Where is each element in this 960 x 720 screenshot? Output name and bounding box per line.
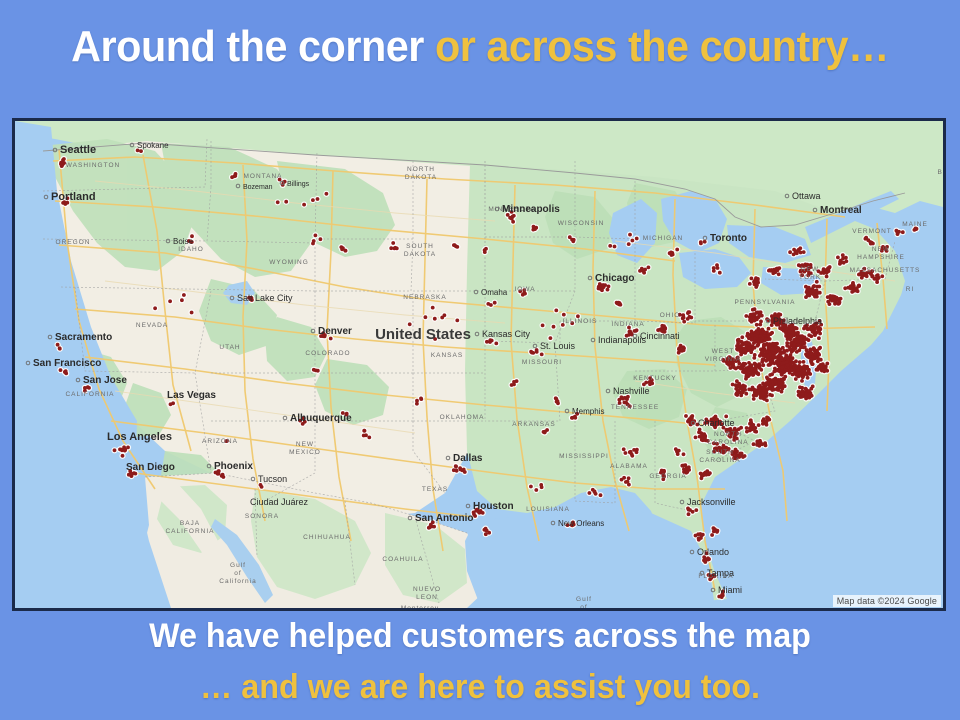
customer-location-marker[interactable] [761, 363, 765, 367]
customer-location-marker[interactable] [849, 285, 853, 289]
customer-location-marker[interactable] [540, 353, 544, 357]
customer-location-marker[interactable] [864, 236, 868, 240]
customer-location-marker[interactable] [734, 453, 738, 457]
customer-location-marker[interactable] [630, 454, 634, 458]
customer-location-marker[interactable] [837, 301, 841, 305]
customer-location-marker[interactable] [319, 237, 323, 241]
customer-location-marker[interactable] [389, 246, 393, 250]
customer-location-marker[interactable] [748, 282, 752, 286]
customer-location-marker[interactable] [153, 306, 157, 310]
customer-location-marker[interactable] [735, 344, 739, 348]
customer-location-marker[interactable] [753, 317, 757, 321]
customer-location-marker[interactable] [851, 281, 855, 285]
customer-location-marker[interactable] [690, 414, 694, 418]
customer-location-marker[interactable] [127, 473, 131, 477]
customer-location-marker[interactable] [807, 394, 811, 398]
customer-location-marker[interactable] [302, 203, 306, 207]
customer-location-marker[interactable] [415, 399, 419, 403]
customer-location-marker[interactable] [454, 464, 458, 468]
customer-location-marker[interactable] [777, 272, 781, 276]
customer-location-marker[interactable] [801, 393, 805, 397]
customer-location-marker[interactable] [838, 262, 842, 266]
customer-location-marker[interactable] [697, 537, 701, 541]
customer-location-marker[interactable] [59, 162, 63, 166]
customer-location-marker[interactable] [765, 376, 769, 380]
customer-location-marker[interactable] [764, 359, 768, 363]
customer-location-marker[interactable] [747, 369, 751, 373]
customer-location-marker[interactable] [119, 448, 123, 452]
customer-location-marker[interactable] [543, 431, 547, 435]
customer-location-marker[interactable] [817, 329, 821, 333]
customer-location-marker[interactable] [625, 397, 629, 401]
customer-location-marker[interactable] [796, 331, 800, 335]
customer-location-marker[interactable] [483, 248, 487, 252]
customer-location-marker[interactable] [631, 239, 635, 243]
customer-location-marker[interactable] [755, 311, 759, 315]
customer-location-marker[interactable] [786, 363, 790, 367]
customer-location-marker[interactable] [588, 491, 592, 495]
customer-location-marker[interactable] [190, 311, 194, 315]
customer-location-marker[interactable] [58, 347, 62, 351]
customer-location-marker[interactable] [802, 327, 806, 331]
customer-location-marker[interactable] [627, 476, 631, 480]
customer-location-marker[interactable] [755, 393, 759, 397]
customer-location-marker[interactable] [329, 337, 333, 341]
customer-location-marker[interactable] [703, 559, 707, 563]
customer-location-marker[interactable] [745, 430, 749, 434]
customer-location-marker[interactable] [681, 348, 685, 352]
customer-location-marker[interactable] [624, 451, 628, 455]
customer-location-marker[interactable] [752, 442, 756, 446]
customer-location-marker[interactable] [635, 450, 639, 454]
customer-location-marker[interactable] [788, 348, 792, 352]
customer-location-marker[interactable] [761, 358, 765, 362]
customer-location-marker[interactable] [182, 293, 186, 297]
customer-location-marker[interactable] [780, 357, 784, 361]
customer-location-marker[interactable] [775, 342, 779, 346]
customer-location-marker[interactable] [554, 309, 558, 313]
customer-location-marker[interactable] [532, 225, 536, 229]
customer-location-marker[interactable] [897, 230, 901, 234]
customer-location-marker[interactable] [810, 362, 814, 366]
customer-location-marker[interactable] [703, 240, 707, 244]
customer-location-marker[interactable] [694, 534, 698, 538]
customer-location-marker[interactable] [768, 268, 772, 272]
customer-location-marker[interactable] [783, 384, 787, 388]
customer-location-marker[interactable] [799, 366, 803, 370]
customer-location-marker[interactable] [836, 256, 840, 260]
customer-location-marker[interactable] [812, 347, 816, 351]
customer-location-marker[interactable] [822, 369, 826, 373]
customer-location-marker[interactable] [780, 365, 784, 369]
customer-location-marker[interactable] [694, 436, 698, 440]
customer-location-marker[interactable] [772, 354, 776, 358]
customer-location-marker[interactable] [817, 336, 821, 340]
customer-location-marker[interactable] [797, 348, 801, 352]
customer-location-marker[interactable] [788, 250, 792, 254]
customer-location-marker[interactable] [675, 248, 679, 252]
customer-location-marker[interactable] [751, 423, 755, 427]
customer-location-map[interactable]: WASHINGTONOREGONIDAHOMONTANAWYOMINGNEVAD… [15, 121, 943, 608]
customer-location-marker[interactable] [740, 340, 744, 344]
customer-location-marker[interactable] [316, 197, 320, 201]
customer-location-marker[interactable] [762, 397, 766, 401]
customer-location-marker[interactable] [806, 327, 810, 331]
customer-location-marker[interactable] [798, 360, 802, 364]
customer-location-marker[interactable] [770, 347, 774, 351]
customer-location-marker[interactable] [311, 198, 315, 202]
customer-location-marker[interactable] [744, 392, 748, 396]
customer-location-marker[interactable] [801, 375, 805, 379]
customer-location-marker[interactable] [554, 396, 558, 400]
customer-location-marker[interactable] [687, 508, 691, 512]
customer-location-marker[interactable] [745, 426, 749, 430]
customer-location-marker[interactable] [699, 240, 703, 244]
customer-location-marker[interactable] [762, 343, 766, 347]
customer-location-marker[interactable] [616, 302, 620, 306]
customer-location-marker[interactable] [773, 380, 777, 384]
customer-location-marker[interactable] [809, 352, 813, 356]
customer-location-marker[interactable] [62, 157, 66, 161]
customer-location-marker[interactable] [792, 343, 796, 347]
customer-location-marker[interactable] [788, 330, 792, 334]
customer-location-marker[interactable] [771, 342, 775, 346]
customer-location-marker[interactable] [682, 464, 686, 468]
customer-location-marker[interactable] [758, 439, 762, 443]
customer-location-marker[interactable] [452, 243, 456, 247]
customer-location-marker[interactable] [901, 230, 905, 234]
customer-location-marker[interactable] [391, 241, 395, 245]
customer-location-marker[interactable] [751, 308, 755, 312]
customer-location-marker[interactable] [812, 289, 816, 293]
customer-location-marker[interactable] [812, 326, 816, 330]
customer-location-marker[interactable] [756, 331, 760, 335]
customer-location-marker[interactable] [485, 340, 489, 344]
customer-location-marker[interactable] [643, 268, 647, 272]
customer-location-marker[interactable] [771, 385, 775, 389]
customer-location-marker[interactable] [570, 416, 574, 420]
customer-location-marker[interactable] [344, 249, 348, 253]
customer-location-marker[interactable] [607, 285, 611, 289]
customer-location-marker[interactable] [795, 373, 799, 377]
customer-location-marker[interactable] [860, 276, 864, 280]
customer-location-marker[interactable] [735, 379, 739, 383]
customer-location-marker[interactable] [694, 508, 698, 512]
customer-location-marker[interactable] [627, 242, 631, 246]
customer-location-marker[interactable] [597, 287, 601, 291]
customer-location-marker[interactable] [738, 452, 742, 456]
customer-location-marker[interactable] [754, 278, 758, 282]
customer-location-marker[interactable] [720, 595, 724, 599]
customer-location-marker[interactable] [788, 337, 792, 341]
customer-location-marker[interactable] [734, 448, 738, 452]
customer-location-marker[interactable] [752, 426, 756, 430]
customer-location-marker[interactable] [704, 471, 708, 475]
customer-location-marker[interactable] [806, 376, 810, 380]
customer-location-marker[interactable] [822, 267, 826, 271]
customer-location-marker[interactable] [431, 306, 435, 310]
customer-location-marker[interactable] [755, 364, 759, 368]
customer-location-marker[interactable] [539, 483, 543, 487]
customer-location-marker[interactable] [512, 380, 516, 384]
customer-location-marker[interactable] [419, 397, 423, 401]
customer-location-marker[interactable] [781, 378, 785, 382]
customer-location-marker[interactable] [325, 192, 329, 196]
customer-location-marker[interactable] [789, 357, 793, 361]
customer-location-marker[interactable] [316, 369, 320, 373]
customer-location-marker[interactable] [534, 488, 538, 492]
customer-location-marker[interactable] [739, 345, 743, 349]
customer-location-marker[interactable] [284, 200, 288, 204]
customer-location-marker[interactable] [826, 300, 830, 304]
customer-location-marker[interactable] [807, 389, 811, 393]
customer-location-marker[interactable] [780, 372, 784, 376]
customer-location-marker[interactable] [798, 246, 802, 250]
customer-location-marker[interactable] [797, 390, 801, 394]
customer-location-marker[interactable] [647, 266, 651, 270]
customer-location-marker[interactable] [817, 353, 821, 357]
customer-location-marker[interactable] [700, 432, 704, 436]
customer-location-marker[interactable] [489, 303, 493, 307]
customer-location-marker[interactable] [763, 419, 767, 423]
customer-location-marker[interactable] [841, 253, 845, 257]
customer-location-marker[interactable] [677, 347, 681, 351]
customer-location-marker[interactable] [677, 351, 681, 355]
customer-location-marker[interactable] [121, 454, 125, 458]
customer-location-marker[interactable] [744, 348, 748, 352]
customer-location-marker[interactable] [747, 388, 751, 392]
customer-location-marker[interactable] [806, 287, 810, 291]
customer-location-marker[interactable] [593, 490, 597, 494]
customer-location-marker[interactable] [750, 338, 754, 342]
customer-location-marker[interactable] [626, 480, 630, 484]
customer-location-marker[interactable] [83, 386, 87, 390]
customer-location-marker[interactable] [804, 387, 808, 391]
customer-location-marker[interactable] [828, 265, 832, 269]
customer-location-marker[interactable] [670, 251, 674, 255]
customer-location-marker[interactable] [703, 434, 707, 438]
customer-location-marker[interactable] [813, 333, 817, 337]
customer-location-marker[interactable] [845, 259, 849, 263]
customer-location-marker[interactable] [424, 315, 428, 319]
customer-location-marker[interactable] [749, 418, 753, 422]
customer-location-marker[interactable] [764, 389, 768, 393]
customer-location-marker[interactable] [759, 320, 763, 324]
customer-location-marker[interactable] [770, 372, 774, 376]
customer-location-marker[interactable] [718, 271, 722, 275]
customer-location-marker[interactable] [683, 468, 687, 472]
customer-location-marker[interactable] [455, 319, 459, 323]
customer-location-marker[interactable] [802, 250, 806, 254]
customer-location-marker[interactable] [815, 285, 819, 289]
customer-location-marker[interactable] [744, 375, 748, 379]
customer-location-marker[interactable] [568, 235, 572, 239]
customer-location-marker[interactable] [541, 324, 545, 328]
customer-location-marker[interactable] [819, 358, 823, 362]
customer-location-marker[interactable] [743, 368, 747, 372]
customer-location-marker[interactable] [782, 350, 786, 354]
customer-location-marker[interactable] [340, 247, 344, 251]
customer-location-marker[interactable] [816, 368, 820, 372]
customer-location-marker[interactable] [731, 383, 735, 387]
customer-location-marker[interactable] [795, 366, 799, 370]
customer-location-marker[interactable] [483, 528, 487, 532]
customer-location-marker[interactable] [802, 346, 806, 350]
customer-location-marker[interactable] [633, 329, 637, 333]
customer-location-marker[interactable] [758, 354, 762, 358]
customer-location-marker[interactable] [635, 237, 639, 241]
customer-location-marker[interactable] [731, 365, 735, 369]
customer-location-marker[interactable] [312, 368, 316, 372]
customer-location-marker[interactable] [684, 414, 688, 418]
customer-location-marker[interactable] [710, 533, 714, 537]
customer-location-marker[interactable] [681, 315, 685, 319]
customer-location-marker[interactable] [765, 350, 769, 354]
customer-location-marker[interactable] [760, 442, 764, 446]
customer-location-marker[interactable] [826, 269, 830, 273]
customer-location-marker[interactable] [712, 266, 716, 270]
customer-location-marker[interactable] [749, 363, 753, 367]
customer-location-marker[interactable] [628, 233, 632, 237]
customer-location-marker[interactable] [739, 367, 743, 371]
customer-location-marker[interactable] [761, 385, 765, 389]
customer-location-marker[interactable] [556, 401, 560, 405]
customer-location-marker[interactable] [755, 443, 759, 447]
customer-location-marker[interactable] [755, 283, 759, 287]
customer-location-marker[interactable] [493, 301, 497, 305]
customer-location-marker[interactable] [775, 388, 779, 392]
customer-location-marker[interactable] [113, 448, 117, 452]
customer-location-marker[interactable] [817, 347, 821, 351]
customer-location-marker[interactable] [811, 385, 815, 389]
customer-location-marker[interactable] [742, 362, 746, 366]
customer-location-marker[interactable] [687, 310, 691, 314]
customer-location-marker[interactable] [805, 348, 809, 352]
customer-location-marker[interactable] [314, 234, 318, 238]
customer-location-marker[interactable] [800, 379, 804, 383]
customer-location-marker[interactable] [222, 475, 226, 479]
customer-location-marker[interactable] [803, 371, 807, 375]
customer-location-marker[interactable] [857, 284, 861, 288]
customer-location-marker[interactable] [682, 320, 686, 324]
customer-location-marker[interactable] [682, 452, 686, 456]
customer-location-marker[interactable] [753, 353, 757, 357]
customer-location-marker[interactable] [811, 330, 815, 334]
customer-location-marker[interactable] [809, 334, 813, 338]
customer-location-marker[interactable] [276, 200, 280, 204]
customer-location-marker[interactable] [362, 434, 366, 438]
customer-location-marker[interactable] [787, 333, 791, 337]
customer-location-marker[interactable] [770, 394, 774, 398]
customer-location-marker[interactable] [312, 239, 316, 243]
customer-location-marker[interactable] [573, 416, 577, 420]
customer-location-marker[interactable] [463, 470, 467, 474]
customer-location-marker[interactable] [458, 466, 462, 470]
customer-location-marker[interactable] [780, 327, 784, 331]
customer-location-marker[interactable] [529, 350, 533, 354]
customer-location-marker[interactable] [785, 327, 789, 331]
customer-location-marker[interactable] [843, 286, 847, 290]
customer-location-marker[interactable] [552, 325, 556, 329]
customer-location-marker[interactable] [484, 532, 488, 536]
customer-location-marker[interactable] [63, 370, 67, 374]
customer-location-marker[interactable] [233, 174, 237, 178]
customer-location-marker[interactable] [620, 478, 624, 482]
customer-location-marker[interactable] [428, 526, 432, 530]
customer-location-marker[interactable] [800, 334, 804, 338]
customer-location-marker[interactable] [622, 447, 626, 451]
customer-location-marker[interactable] [688, 315, 692, 319]
customer-location-marker[interactable] [825, 275, 829, 279]
customer-location-marker[interactable] [180, 298, 184, 302]
customer-location-marker[interactable] [743, 454, 747, 458]
customer-location-marker[interactable] [715, 263, 719, 267]
customer-location-marker[interactable] [529, 485, 533, 489]
customer-location-marker[interactable] [168, 299, 172, 303]
customer-location-marker[interactable] [794, 359, 798, 363]
customer-location-marker[interactable] [123, 449, 127, 453]
customer-location-marker[interactable] [749, 317, 753, 321]
customer-location-marker[interactable] [798, 385, 802, 389]
customer-location-marker[interactable] [818, 291, 822, 295]
customer-location-marker[interactable] [841, 257, 845, 261]
customer-location-marker[interactable] [712, 530, 716, 534]
customer-location-marker[interactable] [829, 296, 833, 300]
customer-location-marker[interactable] [865, 274, 869, 278]
customer-location-marker[interactable] [764, 338, 768, 342]
customer-location-marker[interactable] [621, 397, 625, 401]
customer-location-marker[interactable] [869, 242, 873, 246]
customer-location-marker[interactable] [432, 525, 436, 529]
map-frame[interactable]: WASHINGTONOREGONIDAHOMONTANAWYOMINGNEVAD… [12, 118, 946, 611]
customer-location-marker[interactable] [782, 361, 786, 365]
customer-location-marker[interactable] [767, 327, 771, 331]
customer-location-marker[interactable] [535, 350, 539, 354]
customer-location-marker[interactable] [837, 298, 841, 302]
customer-location-marker[interactable] [791, 373, 795, 377]
customer-location-marker[interactable] [785, 341, 789, 345]
customer-location-marker[interactable] [736, 384, 740, 388]
customer-location-marker[interactable] [778, 349, 782, 353]
customer-location-marker[interactable] [813, 294, 817, 298]
customer-location-marker[interactable] [803, 365, 807, 369]
customer-location-marker[interactable] [802, 360, 806, 364]
customer-location-marker[interactable] [608, 244, 612, 248]
customer-location-marker[interactable] [796, 343, 800, 347]
customer-location-marker[interactable] [56, 343, 60, 347]
customer-location-marker[interactable] [753, 340, 757, 344]
customer-location-marker[interactable] [169, 402, 173, 406]
customer-location-marker[interactable] [776, 362, 780, 366]
customer-location-marker[interactable] [549, 336, 553, 340]
customer-location-marker[interactable] [571, 239, 575, 243]
customer-location-marker[interactable] [757, 423, 761, 427]
customer-location-marker[interactable] [687, 512, 691, 516]
customer-location-marker[interactable] [764, 444, 768, 448]
customer-location-marker[interactable] [599, 493, 603, 497]
customer-location-marker[interactable] [833, 300, 837, 304]
customer-location-marker[interactable] [752, 397, 756, 401]
customer-location-marker[interactable] [770, 331, 774, 335]
customer-location-marker[interactable] [758, 313, 762, 317]
customer-location-marker[interactable] [440, 316, 444, 320]
customer-location-marker[interactable] [794, 250, 798, 254]
customer-location-marker[interactable] [759, 334, 763, 338]
customer-location-marker[interactable] [766, 355, 770, 359]
customer-location-marker[interactable] [433, 317, 437, 321]
customer-location-marker[interactable] [395, 247, 399, 251]
customer-location-marker[interactable] [880, 274, 884, 278]
